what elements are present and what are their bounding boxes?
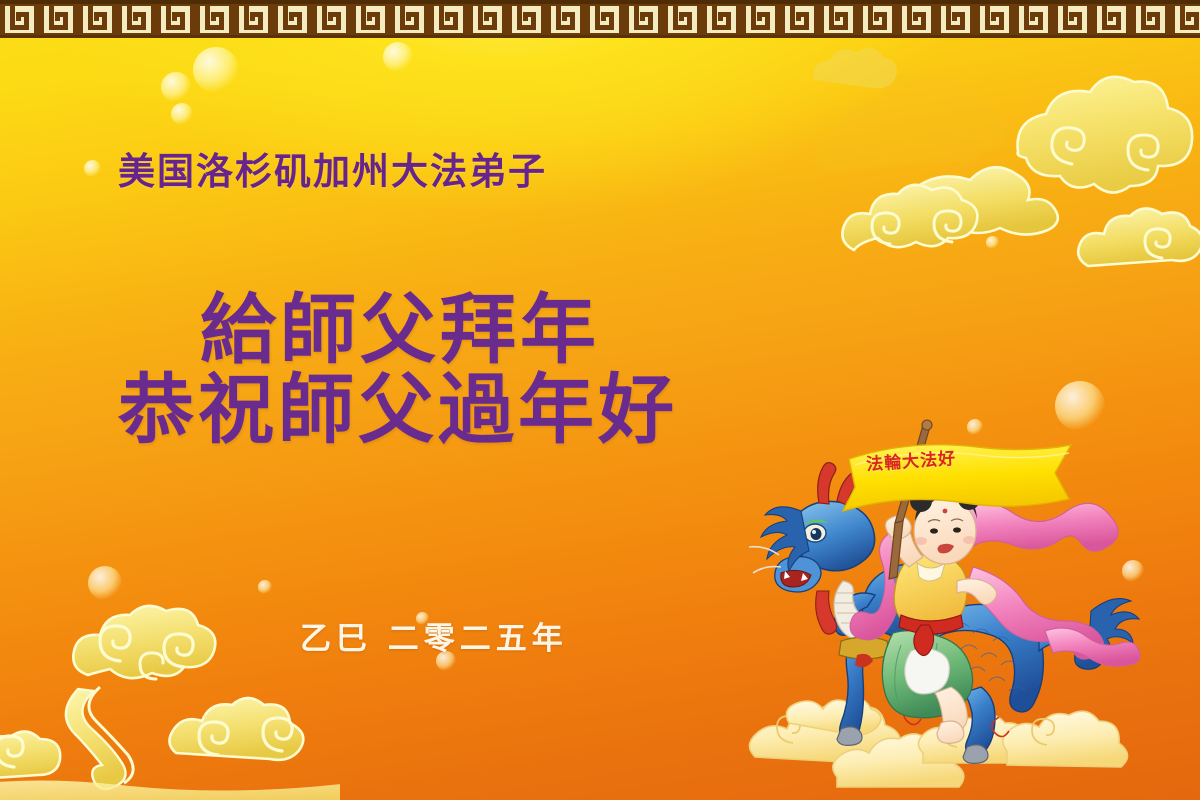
organization-line: 美国洛杉矶加州大法弟子	[118, 141, 547, 195]
greeting-line-2: 恭祝師父過年好	[118, 348, 678, 458]
greeting-card: 法輪大法好	[0, 0, 1200, 800]
date-line: 乙巳 二零二五年	[300, 613, 568, 658]
chinese-meander-border	[0, 0, 1200, 38]
card-text-block: 美国洛杉矶加州大法弟子 給師父拜年 恭祝師父過年好 乙巳 二零二五年	[0, 0, 1200, 800]
